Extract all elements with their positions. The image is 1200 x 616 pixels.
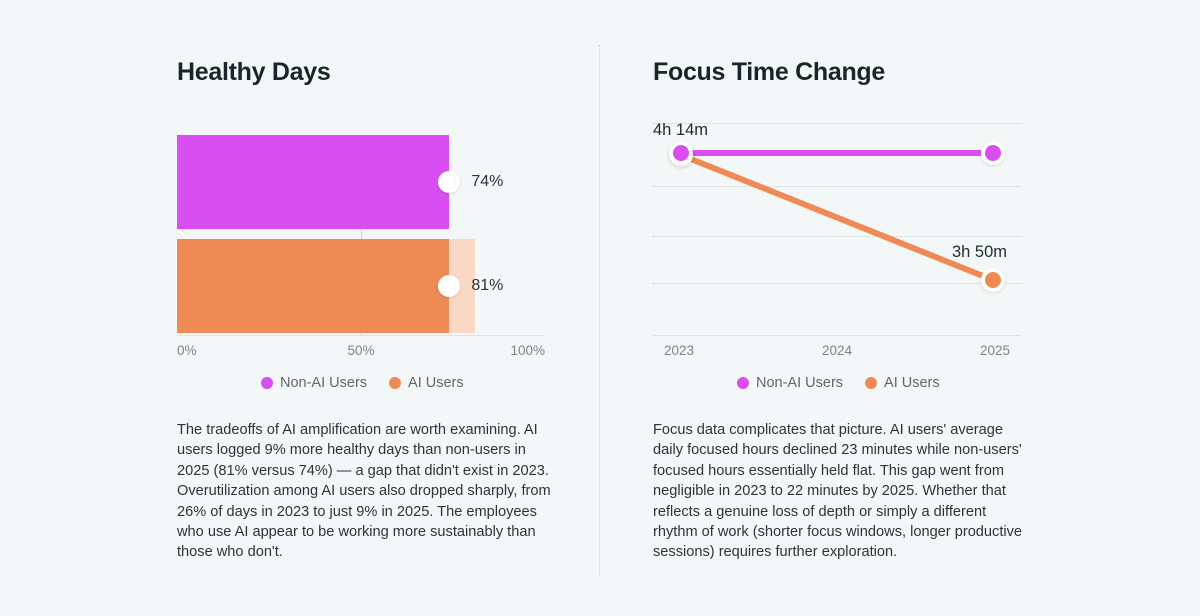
axis-tick-50: 50% bbox=[347, 343, 374, 358]
line-chart-focus-time: 4h 14m 3h 50m bbox=[653, 118, 1021, 332]
legend-item-ai[interactable]: AI Users bbox=[389, 375, 464, 391]
data-point-dot-nonai-2023 bbox=[673, 145, 689, 161]
legend-label-nonai: Non-AI Users bbox=[280, 375, 367, 391]
bar-row[interactable]: 74% bbox=[177, 135, 545, 229]
legend-item-nonai[interactable]: Non-AI Users bbox=[261, 375, 367, 391]
line-chart-axis-labels: 2023 2024 2025 bbox=[653, 343, 1021, 361]
bar-value-ai: 81% bbox=[471, 275, 503, 297]
report-canvas: Healthy Days 74% 81% bbox=[0, 0, 1200, 616]
legend-item-ai[interactable]: AI Users bbox=[865, 375, 940, 391]
panel-divider bbox=[599, 45, 600, 575]
page-title-healthy-days: Healthy Days bbox=[177, 58, 330, 87]
legend-swatch-ai bbox=[865, 377, 877, 389]
bar-chart-healthy-days: 74% 81% bbox=[177, 135, 545, 335]
axis-tick-2025: 2025 bbox=[980, 343, 1010, 358]
data-point-nonai-2025[interactable] bbox=[981, 141, 1005, 165]
legend-label-ai: AI Users bbox=[408, 375, 464, 391]
line-chart-series-svg bbox=[653, 118, 1021, 332]
legend-label-ai: AI Users bbox=[884, 375, 940, 391]
axis-tick-0: 0% bbox=[177, 343, 197, 358]
page-title-focus-time-change: Focus Time Change bbox=[653, 58, 885, 87]
paragraph-focus-time-change: Focus data complicates that picture. AI … bbox=[653, 420, 1031, 563]
axis-tick-2024: 2024 bbox=[822, 343, 852, 358]
panel-focus-time-change: Focus Time Change 4h 14m 3h bbox=[653, 0, 1053, 616]
bar-row[interactable]: 81% bbox=[177, 239, 545, 333]
data-label-ai-2025: 3h 50m bbox=[952, 243, 1007, 262]
bar-marker-dot-nonai bbox=[442, 175, 456, 189]
legend-swatch-nonai bbox=[737, 377, 749, 389]
data-point-ai-2025[interactable] bbox=[981, 268, 1005, 292]
legend-swatch-ai bbox=[389, 377, 401, 389]
panel-healthy-days: Healthy Days 74% 81% bbox=[177, 0, 577, 616]
line-chart-axis-line bbox=[653, 335, 1021, 336]
legend-item-nonai[interactable]: Non-AI Users bbox=[737, 375, 843, 391]
bar-chart-axis-labels: 0% 50% 100% bbox=[177, 343, 545, 361]
bar-fill-nonai bbox=[177, 135, 449, 229]
data-point-nonai-2023[interactable] bbox=[669, 141, 693, 165]
bar-value-nonai: 74% bbox=[471, 171, 503, 193]
data-label-nonai-2023: 4h 14m bbox=[653, 121, 708, 140]
data-point-dot-nonai-2025 bbox=[985, 145, 1001, 161]
legend-swatch-nonai bbox=[261, 377, 273, 389]
legend-focus-time: Non-AI Users AI Users bbox=[737, 375, 940, 391]
bar-marker-dot-ai bbox=[442, 279, 456, 293]
axis-tick-2023: 2023 bbox=[664, 343, 694, 358]
bar-marker-nonai[interactable] bbox=[438, 171, 460, 193]
legend-healthy-days: Non-AI Users AI Users bbox=[261, 375, 464, 391]
bar-fill-ai bbox=[177, 239, 449, 333]
data-point-dot-ai-2025 bbox=[985, 272, 1001, 288]
legend-label-nonai: Non-AI Users bbox=[756, 375, 843, 391]
axis-tick-100: 100% bbox=[510, 343, 545, 358]
line-series-ai bbox=[681, 155, 993, 280]
bar-chart-axis-line bbox=[177, 335, 545, 336]
paragraph-healthy-days: The tradeoffs of AI amplification are wo… bbox=[177, 420, 555, 563]
